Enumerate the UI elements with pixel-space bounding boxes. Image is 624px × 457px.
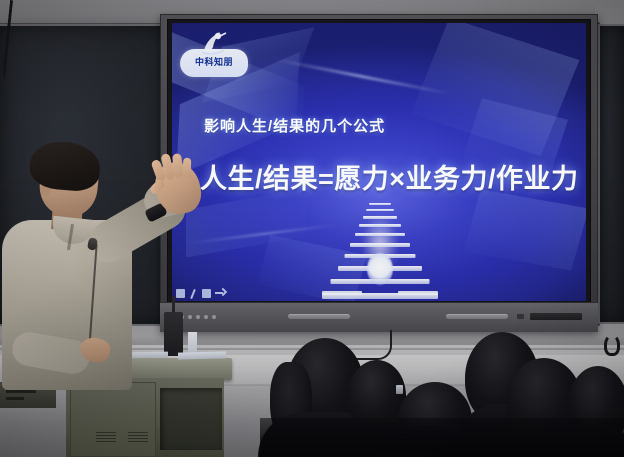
swan-bird-mark-icon bbox=[198, 29, 228, 57]
bezel-port-block bbox=[530, 313, 582, 320]
lectern-door[interactable] bbox=[70, 382, 156, 457]
presenter-teacher bbox=[0, 140, 206, 390]
pc-slot bbox=[6, 390, 36, 393]
slide-logo: 中科知朋 bbox=[180, 27, 252, 79]
glowing-light-orb bbox=[367, 253, 393, 285]
bezel-port bbox=[517, 314, 524, 319]
blackboard-panel-right bbox=[598, 24, 624, 324]
stair-rail bbox=[398, 291, 438, 295]
arrow-icon[interactable] bbox=[215, 289, 224, 298]
hanging-cable-right-icon bbox=[604, 334, 620, 356]
pc-slot bbox=[6, 397, 24, 400]
logo-text: 中科知朋 bbox=[184, 55, 244, 69]
slide-shard bbox=[463, 189, 586, 270]
bezel-power-button[interactable] bbox=[212, 315, 216, 319]
stair-rail bbox=[322, 291, 362, 295]
lectern-shelf bbox=[160, 388, 222, 450]
classroom-photo: 中科知朋 影响人生/结果的几个公式 人生/结果=愿力×业务力/作业力 bbox=[0, 0, 624, 457]
slide-formula: 人生/结果=愿力×业务力/作业力 bbox=[200, 157, 579, 196]
speaker-grille bbox=[288, 314, 350, 319]
slide-subtitle: 影响人生/结果的几个公式 bbox=[204, 115, 385, 136]
display-bottom-bezel bbox=[160, 302, 598, 332]
audience-foreground-shadow bbox=[260, 418, 624, 457]
speaker-grille bbox=[446, 314, 508, 319]
presentation-screen[interactable]: 中科知朋 影响人生/结果的几个公式 人生/结果=愿力×业务力/作业力 bbox=[172, 23, 586, 301]
hair-clip bbox=[396, 385, 403, 394]
stairway-to-light-graphic bbox=[300, 201, 460, 301]
